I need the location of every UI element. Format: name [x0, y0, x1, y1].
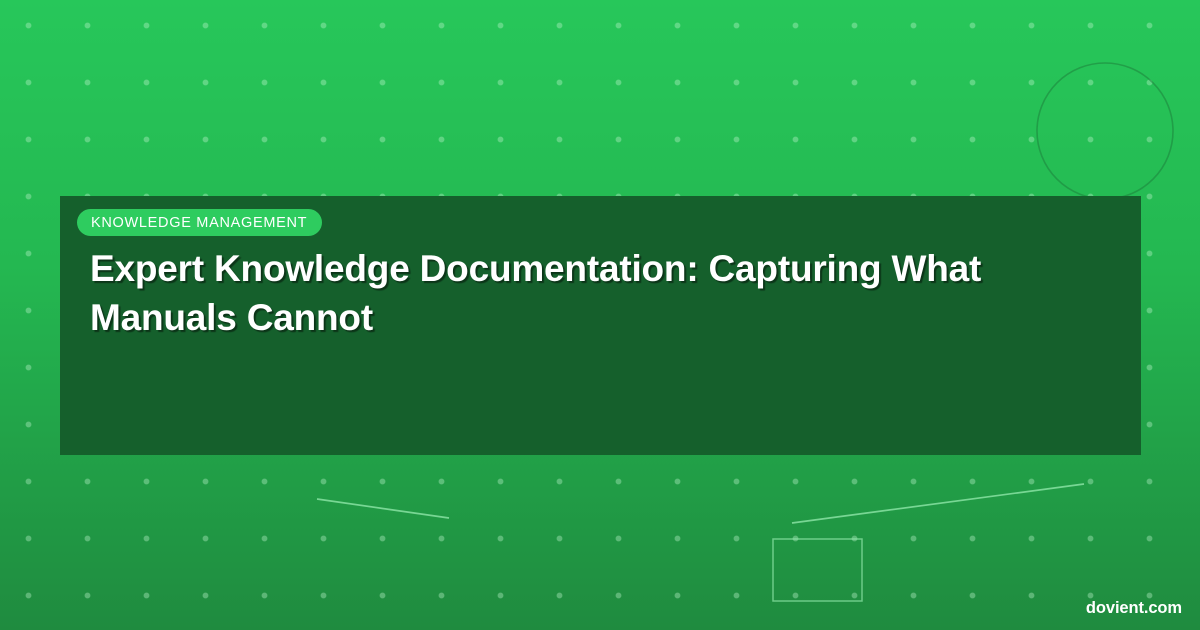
rectangle-outline-icon [773, 539, 862, 601]
hero-card: KNOWLEDGE MANAGEMENT Expert Knowledge Do… [60, 196, 1141, 455]
ascending-line-icon [792, 484, 1084, 523]
circle-outline-icon [1037, 63, 1173, 199]
social-card-canvas: KNOWLEDGE MANAGEMENT Expert Knowledge Do… [0, 0, 1200, 630]
descending-line-icon [317, 499, 449, 518]
site-watermark: dovient.com [1086, 599, 1182, 618]
page-title: Expert Knowledge Documentation: Capturin… [90, 244, 1050, 342]
category-badge: KNOWLEDGE MANAGEMENT [77, 209, 322, 236]
